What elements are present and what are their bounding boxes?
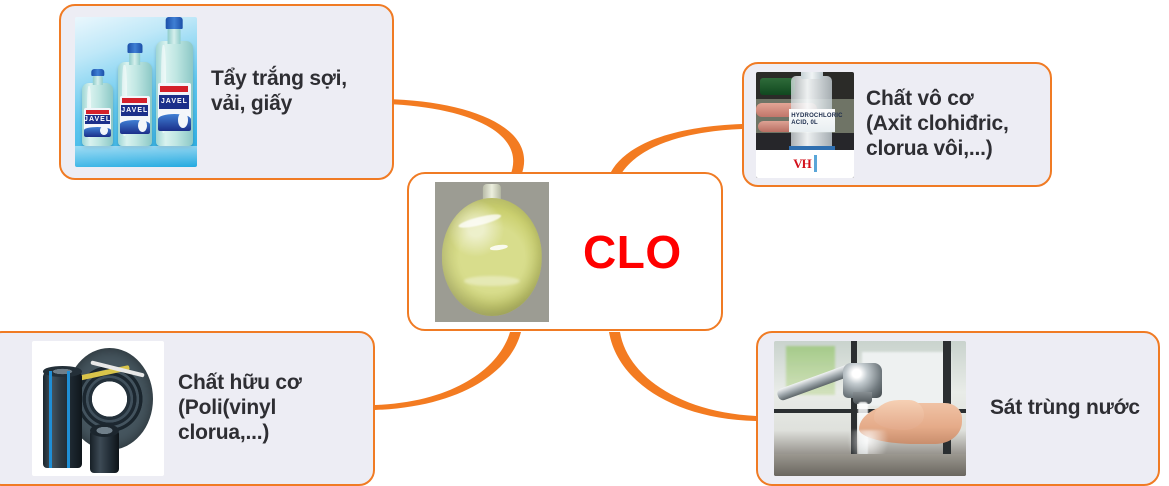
bottle-neck	[92, 75, 102, 85]
center-node-chlorine[interactable]: CLO	[407, 172, 723, 331]
bottle-label: JAVEL	[84, 108, 111, 137]
hand-upper	[874, 400, 924, 430]
pvc-pipes-photo	[32, 341, 164, 476]
bottle-neck	[168, 27, 181, 44]
bottle-cap	[801, 72, 822, 80]
node-organic-label: Chất hữu cơ (Poli(vinyl clorua,...)	[178, 371, 302, 445]
diagram-canvas: JAVEL JAVEL	[0, 0, 1169, 486]
bottle-label: JAVEL	[158, 83, 191, 131]
node-inorganic-label: Chất vô cơ (Axit clohiđric, clorua vôi,.…	[866, 87, 1009, 161]
watermark-bar	[814, 155, 817, 172]
green-object	[760, 78, 795, 95]
connector-center-to-top-right	[609, 124, 742, 176]
label-brand-text: JAVEL	[121, 105, 148, 117]
label-brand-text: JAVEL	[159, 95, 189, 109]
label-brand-text: JAVEL	[85, 115, 109, 124]
chlorine-gas-flask-photo	[435, 182, 549, 322]
node-disinfection[interactable]: Sát trùng nước	[756, 331, 1160, 486]
sink-basin	[774, 454, 966, 476]
label-puff	[178, 112, 188, 128]
bottle-cap	[91, 69, 104, 77]
bottle-cap	[127, 43, 142, 53]
node-inorganic[interactable]: HYDROCHLORIC ACID, 0L VH Chất vô cơ (Axi…	[742, 62, 1052, 187]
connector-center-to-bottom-left	[375, 332, 521, 410]
node-bleaching[interactable]: JAVEL JAVEL	[59, 4, 394, 180]
flask-highlight-mid	[490, 244, 509, 251]
watermark-vh-text: VH	[793, 157, 811, 170]
large-pipe	[43, 371, 83, 468]
acid-label-line2: ACID, 0L	[791, 120, 818, 128]
bottle-cap	[166, 17, 183, 29]
acid-bottle-label: HYDROCHLORIC ACID, 0L	[789, 109, 835, 133]
label-red-bar	[160, 86, 188, 92]
pipe-blue-stripe	[49, 371, 52, 468]
hydrochloric-acid-bottle-photo: HYDROCHLORIC ACID, 0L VH	[756, 72, 854, 178]
bottle-neck	[129, 51, 141, 64]
center-node-label: CLO	[583, 229, 682, 275]
small-pipe	[90, 430, 119, 473]
bleach-bottle-small: JAVEL	[82, 83, 113, 146]
javel-bleach-bottles-photo: JAVEL JAVEL	[75, 17, 197, 167]
node-disinfection-label: Sát trùng nước	[990, 396, 1140, 421]
pipe-blue-stripe	[67, 371, 70, 468]
bleach-bottle-large: JAVEL	[156, 41, 194, 146]
watermark-strip: VH	[756, 150, 854, 178]
pipe-opening	[90, 424, 119, 437]
faucet-running-water-photo	[774, 341, 966, 476]
connector-center-to-top-left	[386, 99, 524, 176]
label-red-bar	[122, 98, 147, 103]
bottle-label: JAVEL	[120, 96, 150, 135]
bleach-bottle-medium: JAVEL	[118, 62, 152, 146]
acid-label-line1: HYDROCHLORIC	[791, 113, 842, 121]
flask-highlight-bottom	[464, 276, 520, 287]
connector-center-to-bottom-right	[609, 332, 756, 421]
label-red-bar	[86, 110, 109, 114]
node-bleaching-label: Tẩy trắng sợi, vải, giấy	[211, 67, 347, 117]
label-puff	[138, 119, 147, 132]
photo-reflection	[75, 146, 197, 167]
node-organic[interactable]: Chất hữu cơ (Poli(vinyl clorua,...)	[0, 331, 375, 486]
flask-highlight-top	[458, 212, 503, 231]
flask-body	[442, 198, 542, 316]
